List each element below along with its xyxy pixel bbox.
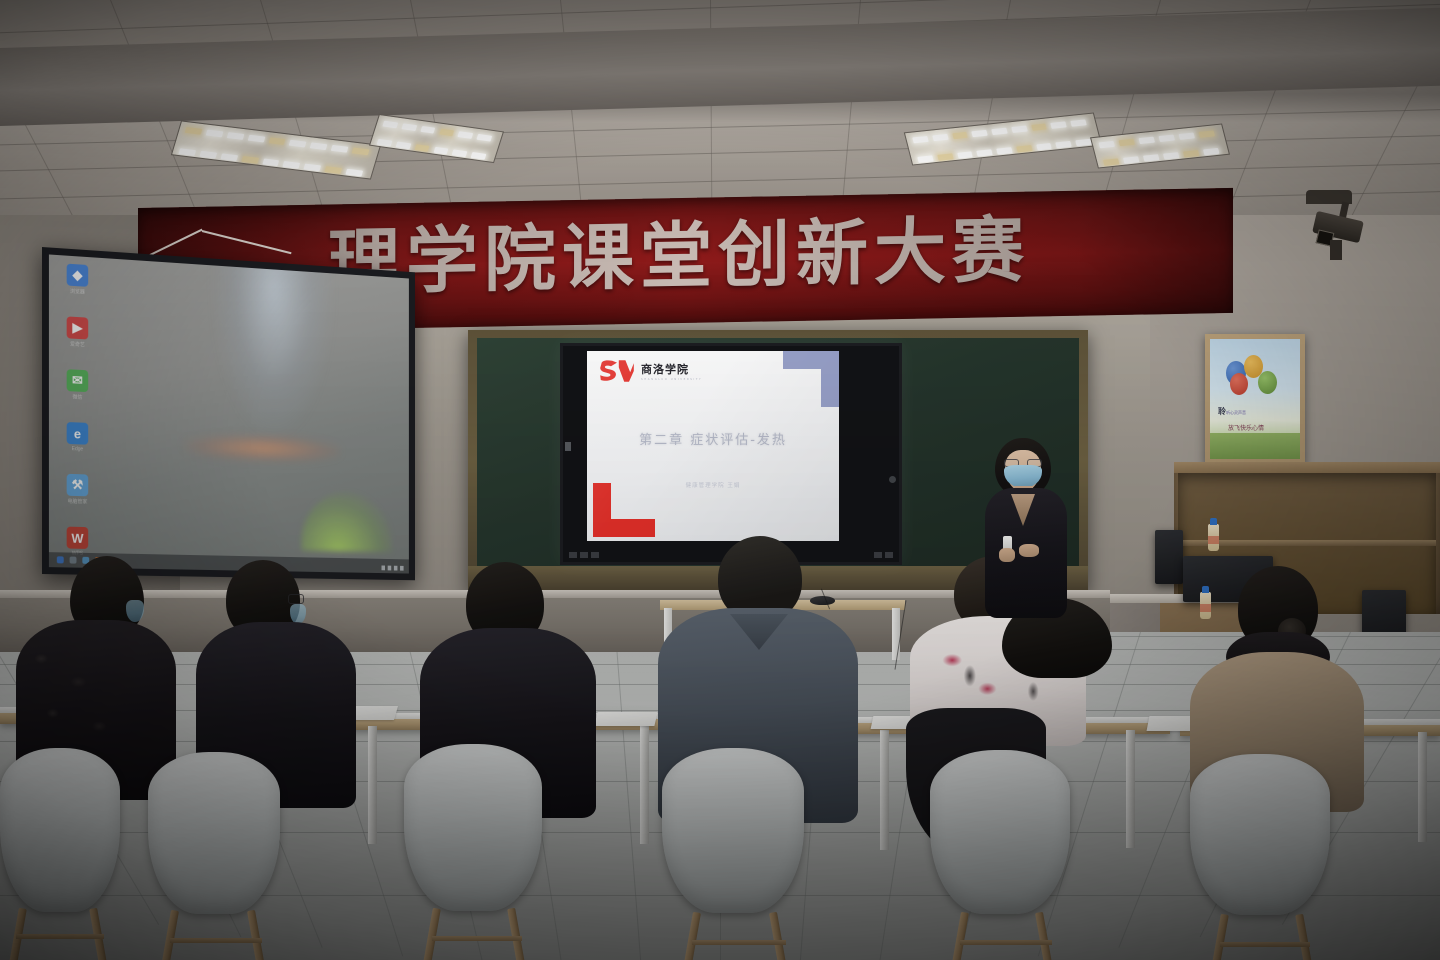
chair-shell [930, 750, 1070, 914]
display-button[interactable] [591, 552, 599, 558]
lamp-cell [1179, 132, 1195, 139]
lamp-cell [952, 132, 968, 139]
lamp-cell [206, 130, 224, 138]
university-logo-subtext: SHANGLUO UNIVERSITY [641, 378, 702, 381]
lamp-cell [1070, 119, 1086, 126]
chair-brace [170, 938, 262, 943]
chair-shell [0, 748, 120, 912]
lamp-cell [932, 134, 948, 141]
lamp-cell [439, 129, 455, 137]
lamp-cell [401, 123, 417, 131]
lamp-cell [1011, 126, 1027, 133]
chair-leg [683, 912, 701, 960]
lamp-cell [310, 142, 328, 150]
fur-texture [18, 630, 134, 760]
display-button[interactable] [885, 552, 893, 558]
lamp-cell [1143, 154, 1159, 161]
tools-icon[interactable]: ⚒电脑管家 [61, 474, 94, 506]
mount-arm-left [150, 229, 203, 256]
lamp-cell [283, 161, 301, 169]
desktop-icon-label: 浏览器 [61, 287, 94, 296]
lamp-cell [1031, 124, 1047, 131]
presenter-hand [1019, 544, 1039, 557]
chair-brace [692, 940, 786, 945]
chair-brace [432, 936, 522, 941]
wallpaper-green-hill [302, 491, 392, 553]
lamp-cell [996, 147, 1012, 154]
chair-leg [161, 910, 179, 960]
university-logo-name: 商洛学院 [641, 361, 702, 377]
desk-leg [880, 730, 889, 850]
wechat-icon[interactable]: ✉微信 [61, 369, 94, 401]
lamp-cell [477, 134, 493, 142]
display-button[interactable] [580, 552, 588, 558]
chair-shell [148, 752, 280, 914]
chair-leg [1035, 912, 1053, 960]
projection-screen: ◆浏览器▶爱奇艺✉微信eEdge⚒电脑管家WWPS [42, 247, 415, 580]
lamp-cell [1051, 121, 1067, 128]
desktop-icon-label: Edge [61, 446, 94, 453]
glasses-icon [288, 594, 304, 604]
balloon-icon [1230, 373, 1248, 395]
system-tray[interactable] [381, 565, 403, 570]
lamp-cell [1123, 156, 1139, 163]
edge-icon[interactable]: eEdge [61, 422, 94, 453]
bottle-label [1208, 536, 1219, 544]
slide-corner-accent-bottom-left [593, 483, 655, 537]
chair[interactable] [404, 744, 542, 958]
lamp-cell [1036, 143, 1052, 150]
lamp-cell [262, 158, 280, 166]
lamp-cell [178, 148, 196, 156]
lamp-cell [977, 149, 993, 156]
chair-brace [1220, 942, 1310, 947]
lectern-leg [892, 608, 900, 660]
slide-corner-accent-top-right [765, 351, 839, 407]
browser-icon[interactable]: ◆浏览器 [61, 263, 94, 296]
lamp-cell [1183, 150, 1199, 157]
lamp-cell [433, 147, 449, 155]
wall-poster: 聆听心灵声音 放飞快乐心情 [1205, 334, 1305, 464]
university-logo: 商洛学院 SHANGLUO UNIVERSITY [599, 359, 702, 383]
lamp-cell [1139, 137, 1155, 144]
chair-shell [662, 748, 804, 913]
security-camera-icon [1300, 190, 1370, 270]
slide-title: 第二章 症状评估-发热 [587, 429, 839, 448]
sl-logo-mark-icon [599, 359, 635, 383]
chair-leg [1211, 914, 1229, 960]
lamp-cell [382, 121, 398, 129]
lamp-cell [226, 132, 244, 140]
chair-brace [960, 940, 1052, 945]
presenter-hand [999, 548, 1015, 562]
presenter [975, 438, 1075, 643]
lamp-cell [220, 153, 238, 161]
tray-icon [400, 566, 404, 571]
office-icon: W [67, 527, 89, 549]
mount-arm-right [202, 230, 292, 254]
lamp-cell [395, 141, 411, 149]
shelf-top-board [1174, 462, 1440, 473]
lamp-cell [420, 126, 436, 134]
display-side-port [565, 442, 571, 451]
computer-monitor [1155, 530, 1183, 584]
screen-mount-bracket [150, 228, 290, 258]
chair[interactable] [1190, 754, 1330, 960]
desk-leg [368, 726, 377, 844]
floor-grout-line [615, 632, 642, 960]
poster-main-text: 聆听心灵声音 [1218, 406, 1246, 417]
lamp-cell [331, 145, 349, 153]
lamp-cell [325, 166, 343, 174]
desk-leg [640, 726, 649, 844]
lamp-cell [1103, 158, 1119, 165]
lamp-cell [917, 155, 933, 162]
lamp-cell [1199, 130, 1215, 137]
lamp-cell [1016, 145, 1032, 152]
desktop-icon-label: 爱奇艺 [61, 340, 94, 349]
chair-shell [1190, 754, 1330, 915]
lamp-cell [972, 130, 988, 137]
chair-leg [1295, 914, 1313, 960]
lamp-cell [912, 136, 928, 143]
tray-icon [394, 566, 398, 571]
wechat-icon: ✉ [67, 369, 89, 392]
chair-brace [16, 934, 104, 939]
desk-leg [1418, 732, 1427, 842]
face-mask [126, 600, 144, 622]
beverage-bottle [1208, 524, 1219, 551]
chair-leg [423, 908, 441, 960]
lamp-cell [352, 148, 370, 156]
tray-icon [381, 565, 385, 570]
lamp-cell [1099, 141, 1115, 148]
display-button[interactable] [569, 552, 577, 558]
lamp-cell [289, 140, 307, 148]
lamp-cell [414, 144, 430, 152]
poster-small-text: 听心灵声音 [1226, 410, 1246, 415]
lamp-cell [377, 139, 393, 147]
poster-artwork: 聆听心灵声音 放飞快乐心情 [1210, 339, 1300, 459]
lamp-cell [1159, 135, 1175, 142]
classroom-photo-scene: 理学院课堂创新大赛 ◆浏览器▶爱奇艺✉微信eEdge⚒电脑管家WWPS [0, 0, 1440, 960]
wallpaper-sky-glow [212, 254, 333, 440]
lamp-cell [471, 152, 487, 160]
desk-leg [1126, 730, 1135, 848]
wallpaper-horizon-glow [183, 432, 340, 465]
projection-screen-surface: ◆浏览器▶爱奇艺✉微信eEdge⚒电脑管家WWPS [49, 254, 409, 573]
lamp-cell [937, 153, 953, 160]
lamp-cell [241, 156, 259, 164]
chair-leg [769, 912, 787, 960]
bottle-cap [1210, 518, 1217, 525]
poster-grass-band [1210, 433, 1300, 459]
lamp-cell [185, 127, 203, 135]
banner-text: 理学院课堂创新大赛 [328, 206, 1030, 307]
chair[interactable] [930, 750, 1070, 960]
lamp-cell [957, 151, 973, 158]
lamp-cell [268, 137, 286, 145]
chair-leg [507, 908, 525, 960]
chair[interactable] [148, 752, 280, 960]
balloon-icon [1258, 371, 1277, 394]
display-power-indicator [889, 476, 896, 483]
chair-shell [404, 744, 542, 911]
lamp-cell [1119, 139, 1135, 146]
chair-leg [951, 912, 969, 960]
media-icon[interactable]: ▶爱奇艺 [61, 316, 94, 349]
display-buttons-right[interactable] [874, 552, 893, 558]
interactive-smart-display[interactable]: 商洛学院 SHANGLUO UNIVERSITY 第二章 症状评估-发热 健康管… [560, 343, 902, 565]
lamp-cell [458, 131, 474, 139]
lamp-cell [247, 135, 265, 143]
desktop-icon-column: ◆浏览器▶爱奇艺✉微信eEdge⚒电脑管家WWPS [61, 263, 110, 573]
lamp-cell [1075, 139, 1091, 146]
lamp-cell [199, 151, 217, 159]
face-mask [290, 604, 306, 624]
poster-sub-text: 放飞快乐心情 [1228, 423, 1264, 432]
slide-subtitle: 健康管理学院 王娟 [587, 481, 839, 489]
lamp-cell [1163, 152, 1179, 159]
camera-mount [1330, 240, 1342, 260]
paper-sheet [594, 712, 657, 726]
desktop-icon-label: 电脑管家 [61, 498, 94, 506]
edge-icon: e [67, 422, 89, 445]
lamp-cell [452, 149, 468, 157]
display-button[interactable] [874, 552, 882, 558]
lamp-cell [346, 169, 364, 177]
chair-leg [247, 910, 265, 960]
lamp-cell [1203, 148, 1219, 155]
chair[interactable] [662, 748, 804, 960]
display-buttons-left[interactable] [569, 552, 599, 558]
desktop-icon-label: 微信 [61, 393, 94, 401]
chair[interactable] [0, 748, 120, 958]
tray-icon [388, 566, 392, 571]
presentation-slide: 商洛学院 SHANGLUO UNIVERSITY 第二章 症状评估-发热 健康管… [587, 351, 839, 541]
lamp-cell [304, 164, 322, 172]
browser-icon: ◆ [67, 264, 89, 287]
media-icon: ▶ [67, 316, 89, 339]
lamp-cell [1056, 141, 1072, 148]
tools-icon: ⚒ [67, 474, 89, 497]
lamp-cell [991, 128, 1007, 135]
